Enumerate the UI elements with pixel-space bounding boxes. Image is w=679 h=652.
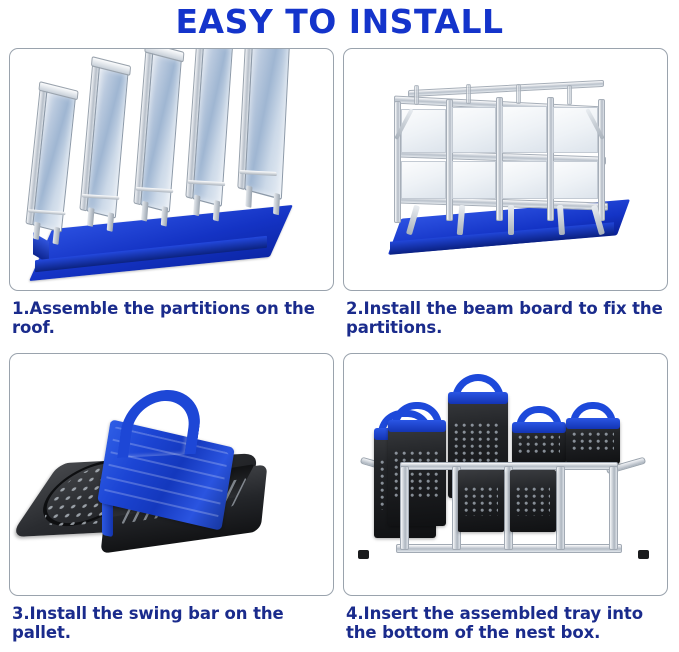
tray-lower-face <box>458 470 504 532</box>
frame-post <box>394 101 401 223</box>
page-title: EASY TO INSTALL <box>0 2 679 42</box>
partition-panel <box>86 66 128 219</box>
panel-foot-left <box>245 185 252 208</box>
tray-grip-plate <box>566 418 620 429</box>
step-1: 1.Assemble the partitions on the roof. <box>6 48 340 353</box>
support-leg <box>557 205 565 235</box>
tray-grip-plate <box>388 420 446 432</box>
panel-foot-right <box>273 193 280 216</box>
tray-perforations <box>518 435 560 453</box>
tray-grip-plate <box>448 392 508 404</box>
step-1-image <box>9 48 334 291</box>
cage-frame <box>390 81 620 236</box>
frame-foot-left <box>358 550 369 559</box>
tray-lower-face <box>510 470 556 532</box>
frame-post <box>598 99 605 221</box>
partition-cell <box>502 106 547 153</box>
tray-grip-plate <box>512 422 566 433</box>
partition-cell <box>553 161 598 199</box>
beam-frame-illustration <box>344 49 667 290</box>
support-leg <box>457 205 466 235</box>
tray-perforations <box>516 487 550 516</box>
panel-face <box>244 48 290 200</box>
step-2-caption: 2.Install the beam board to fix the part… <box>343 299 668 337</box>
swing-bar-handle <box>117 388 205 458</box>
step-4-caption: 4.Insert the assembled tray into the bot… <box>343 604 668 642</box>
partition-cell <box>502 161 547 199</box>
step-3: 3.Install the swing bar on the pallet. <box>6 353 340 651</box>
step-2-image <box>343 48 668 291</box>
tray-perforations <box>572 432 614 452</box>
partition-panel <box>32 90 76 232</box>
frame-foot-right <box>638 550 649 559</box>
frame-leg <box>556 466 565 550</box>
step-1-caption: 1.Assemble the partitions on the roof. <box>9 299 334 337</box>
frame-post-back <box>567 85 572 105</box>
step-4-image <box>343 353 668 596</box>
partition-panel <box>244 48 290 200</box>
panel-foot-left <box>193 195 200 217</box>
beam-board-top-back <box>408 80 604 97</box>
partition-cell <box>401 161 446 199</box>
frame-post-back <box>466 84 471 104</box>
nestbox-trays-illustration <box>344 354 667 595</box>
pallet-swingbar-illustration <box>10 354 333 595</box>
frame-post-back <box>516 84 521 104</box>
partition-cell <box>452 161 496 199</box>
partition-cell <box>452 107 496 153</box>
step-3-image <box>9 353 334 596</box>
step-3-caption: 3.Install the swing bar on the pallet. <box>9 604 334 642</box>
support-leg <box>508 205 514 235</box>
frame-leg <box>400 466 409 550</box>
support-leg <box>406 205 420 235</box>
step-4: 4.Insert the assembled tray into the bot… <box>340 353 674 651</box>
frame-post-back <box>414 85 419 105</box>
partitions-illustration <box>10 49 333 290</box>
nest-box-frame <box>400 462 618 552</box>
step-2: 2.Install the beam board to fix the part… <box>340 48 674 353</box>
partition-panel <box>140 52 182 213</box>
frame-leg <box>609 466 618 550</box>
install-guide-page: EASY TO INSTALL <box>0 0 679 652</box>
tray-perforations <box>464 487 498 516</box>
steps-grid: 1.Assemble the partitions on the roof. <box>6 48 673 648</box>
partition-panel <box>192 48 233 207</box>
